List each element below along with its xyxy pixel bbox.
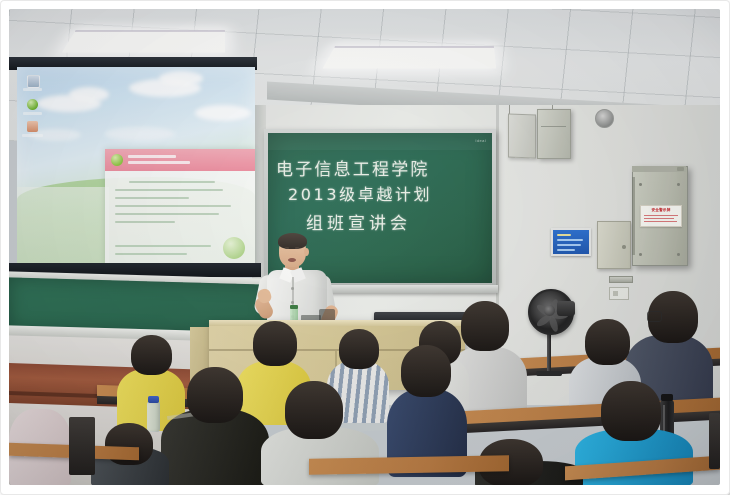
projected-body-text xyxy=(115,213,219,215)
notice-sign-line-2 xyxy=(557,239,583,241)
classroom-photograph: 安全警示牌 xyxy=(9,9,720,485)
student-head xyxy=(253,321,297,366)
cabinet-screw xyxy=(677,253,680,256)
student-head xyxy=(585,319,630,365)
ceiling-light-panel-2 xyxy=(323,46,497,68)
projected-background-pane xyxy=(17,187,109,265)
cabinet-screw xyxy=(677,183,680,186)
projected-header-title xyxy=(128,155,176,158)
projected-body-text xyxy=(129,181,215,183)
warning-text-line xyxy=(644,221,677,222)
projected-body-text xyxy=(115,253,187,255)
presenter-ear xyxy=(304,248,309,256)
desktop-icon-label xyxy=(22,134,43,137)
student-head xyxy=(601,381,661,441)
projected-body-text xyxy=(115,245,211,247)
student-head xyxy=(339,329,379,369)
projected-header-subtitle xyxy=(128,161,190,164)
warning-label: 安全警示牌 xyxy=(640,205,682,227)
my-computer-icon[interactable] xyxy=(27,75,40,88)
student-head xyxy=(285,381,343,439)
chair-back xyxy=(69,417,95,475)
blackboard-line-1: 电子信息工程学院 xyxy=(276,155,430,180)
folder-icon[interactable] xyxy=(27,121,38,132)
podium-bottle-cap xyxy=(290,305,298,309)
blackboard-line-2: 2013级卓越计划 xyxy=(288,181,432,205)
presenter-hair xyxy=(278,233,307,249)
wall-switch-box[interactable] xyxy=(609,287,629,300)
projected-window-header xyxy=(105,149,255,171)
desktop-icon-label xyxy=(23,112,42,115)
photo-frame: 安全警示牌 xyxy=(0,0,730,495)
fan-motor-housing xyxy=(557,301,575,316)
blackboard-line-3: 组班宣讲会 xyxy=(306,209,411,234)
cabinet-screw xyxy=(639,253,642,256)
water-bottle-cap xyxy=(661,394,673,401)
warning-text-line xyxy=(644,215,678,216)
projected-body-text xyxy=(115,197,189,199)
panel-knob-icon xyxy=(622,245,626,249)
ceiling-light-panel-1 xyxy=(62,30,225,52)
wall-box-line xyxy=(541,126,566,127)
desktop-icon-label xyxy=(23,88,42,91)
projected-badge-icon xyxy=(223,237,245,259)
presenter-shirt-button xyxy=(291,301,294,304)
eyeglasses-icon xyxy=(647,311,662,322)
wall-box-a xyxy=(508,114,536,159)
notice-sign-line-4 xyxy=(557,249,575,251)
wallpaper-cloud xyxy=(159,71,203,86)
student-head xyxy=(187,367,243,423)
antivirus-shield-icon[interactable] xyxy=(27,99,38,110)
cabinet-latch xyxy=(677,167,684,171)
presenter-eye xyxy=(295,247,299,249)
wall-box-b xyxy=(537,109,571,159)
water-bottle-cap xyxy=(148,396,159,403)
wallpaper-cloud xyxy=(195,105,251,121)
ceiling-speaker-icon xyxy=(595,109,614,128)
warning-text-line xyxy=(644,218,674,219)
student-head xyxy=(461,301,509,351)
notice-sign-line-3 xyxy=(557,244,581,246)
blue-notice-sign xyxy=(551,228,591,256)
wall-switch-button[interactable] xyxy=(613,291,618,296)
projected-body-text xyxy=(115,221,175,223)
presenter-shirt-button xyxy=(291,287,294,290)
wallpaper-cloud xyxy=(105,127,175,141)
notice-sign-line-1 xyxy=(557,234,571,236)
cabinet-hinge xyxy=(632,177,635,255)
projected-app-logo-icon xyxy=(111,154,123,166)
bottle-highlight xyxy=(663,405,665,433)
blackboard-brand-mark: Ideal xyxy=(475,138,486,143)
beige-panel-box xyxy=(597,221,631,269)
presenter-mouth xyxy=(288,258,296,262)
blackboard-top-strip xyxy=(268,133,492,150)
wall-switch-strip[interactable] xyxy=(609,276,633,283)
fan-hub xyxy=(544,305,555,316)
warning-label-title: 安全警示牌 xyxy=(641,208,681,213)
fan-base xyxy=(536,371,562,376)
student-head xyxy=(401,345,451,397)
cabinet-screw xyxy=(639,183,642,186)
projected-body-text xyxy=(115,205,231,207)
wallpaper-cloud xyxy=(69,87,109,102)
student-head xyxy=(131,335,172,375)
projected-body-text xyxy=(115,189,223,191)
chair-back xyxy=(709,413,720,469)
presenter-eye xyxy=(285,247,289,249)
water-bottle-blue-cap xyxy=(147,402,160,432)
